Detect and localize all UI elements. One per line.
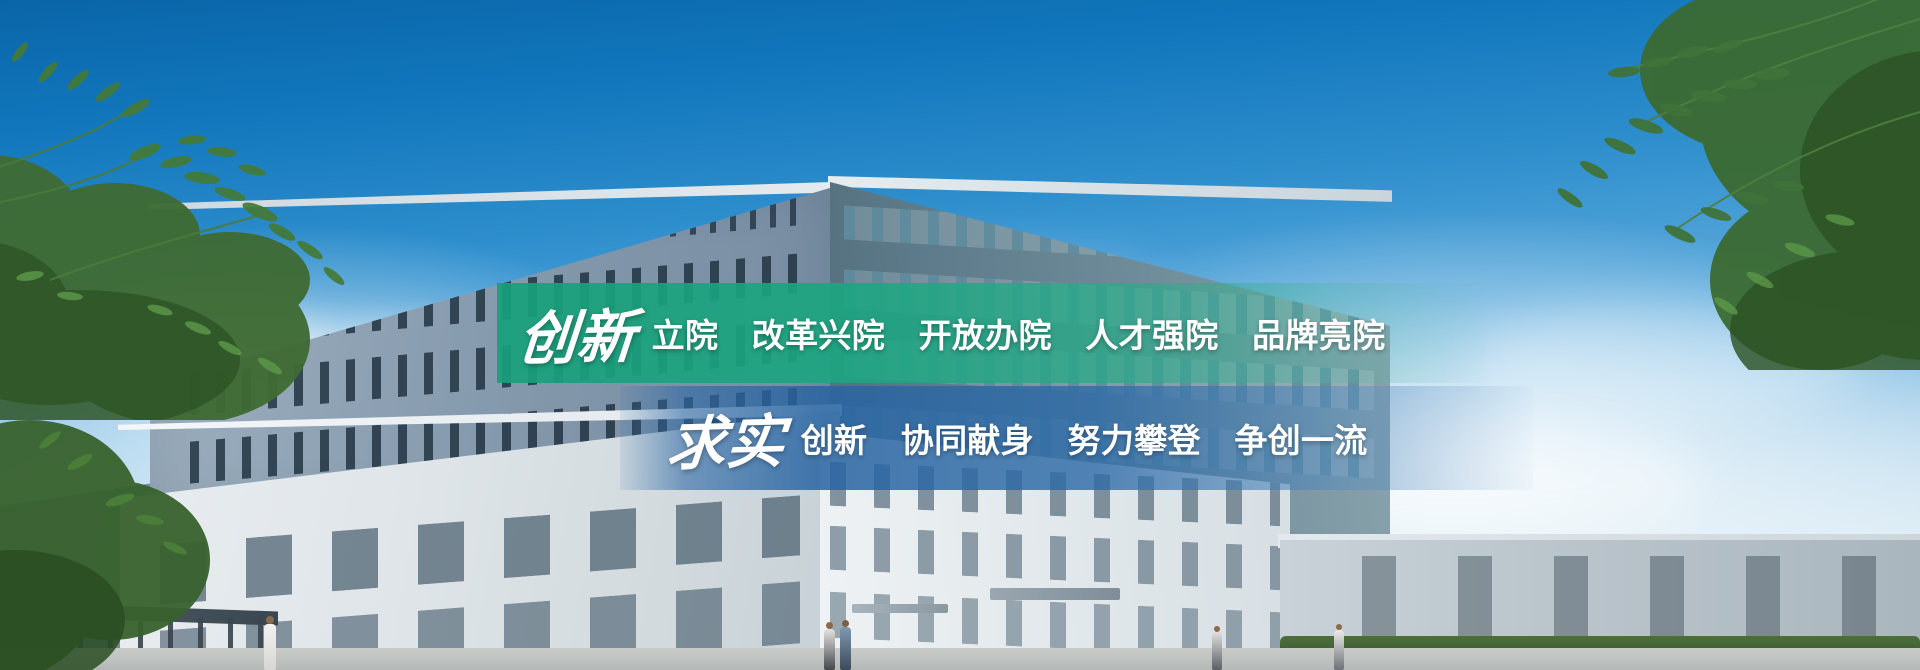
blue-banner-brush-word: 求实: [665, 394, 789, 481]
window-band: [830, 526, 1280, 590]
blue-phrase-1: 创新: [801, 422, 868, 459]
green-slogan-banner: 创新 立院 改革兴院 开放办院 人才强院 品牌亮院: [497, 283, 1487, 383]
green-phrase-5: 品牌亮院: [1252, 317, 1385, 354]
pedestrian: [264, 616, 276, 670]
pedestrian: [824, 622, 835, 670]
green-phrase-1: 立院: [652, 317, 719, 354]
cloud: [1480, 300, 1860, 420]
blue-phrase-4: 争创一流: [1234, 422, 1367, 459]
entrance-canopy: [990, 588, 1120, 600]
banner-hero: 创新 立院 改革兴院 开放办院 人才强院 品牌亮院 求实 创新 协同献身 努力攀…: [0, 0, 1920, 670]
pedestrian: [840, 620, 851, 670]
green-banner-brush-word: 创新: [516, 289, 640, 376]
blue-phrase-2: 协同献身: [901, 422, 1034, 459]
pedestrian: [1334, 624, 1344, 670]
green-phrase-2: 改革兴院: [752, 317, 885, 354]
green-banner-slogan: 立院 改革兴院 开放办院 人才强院 品牌亮院: [652, 309, 1386, 357]
blue-slogan-banner: 求实 创新 协同献身 努力攀登 争创一流: [620, 386, 1533, 490]
green-phrase-4: 人才强院: [1085, 317, 1218, 354]
green-phrase-3: 开放办院: [919, 317, 1052, 354]
blue-phrase-3: 努力攀登: [1068, 422, 1201, 459]
ground-plaza: [0, 648, 1920, 670]
entrance-canopy-secondary: [852, 604, 948, 613]
pedestrian: [1212, 626, 1222, 670]
blue-banner-slogan: 创新 协同献身 努力攀登 争创一流: [801, 414, 1368, 462]
